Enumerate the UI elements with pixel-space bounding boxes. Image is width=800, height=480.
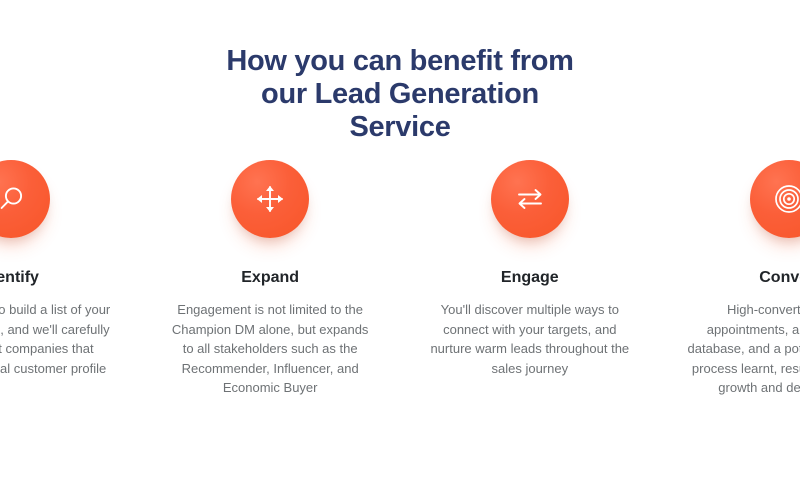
feature-description: You'll discover multiple ways to connect… [427, 300, 632, 378]
target-bullseye-icon [750, 160, 800, 238]
search-icon [0, 160, 50, 238]
feature-description: High-converting sales appointments, a we… [687, 300, 800, 398]
feature-title: Convert [759, 268, 800, 288]
feature-card-convert: Convert High-converting sales appointmen… [678, 160, 800, 398]
feature-description: Engagement is not limited to the Champio… [168, 300, 373, 398]
lead-generation-benefits-section: How you can benefit from our Lead Genera… [0, 0, 800, 480]
arrows-expand-icon [231, 160, 309, 238]
feature-card-identify: Identify We'll help you to build a list … [0, 160, 122, 398]
feature-description: We'll help you to build a list of your t… [0, 300, 113, 378]
feature-title: Engage [501, 268, 559, 288]
feature-card-engage: Engage You'll discover multiple ways to … [418, 160, 641, 398]
features-grid: Identify We'll help you to build a list … [0, 160, 800, 398]
exchange-arrows-icon [491, 160, 569, 238]
feature-title: Identify [0, 268, 39, 288]
feature-title: Expand [241, 268, 299, 288]
page-title: How you can benefit from our Lead Genera… [0, 45, 800, 144]
feature-card-expand: Expand Engagement is not limited to the … [159, 160, 382, 398]
